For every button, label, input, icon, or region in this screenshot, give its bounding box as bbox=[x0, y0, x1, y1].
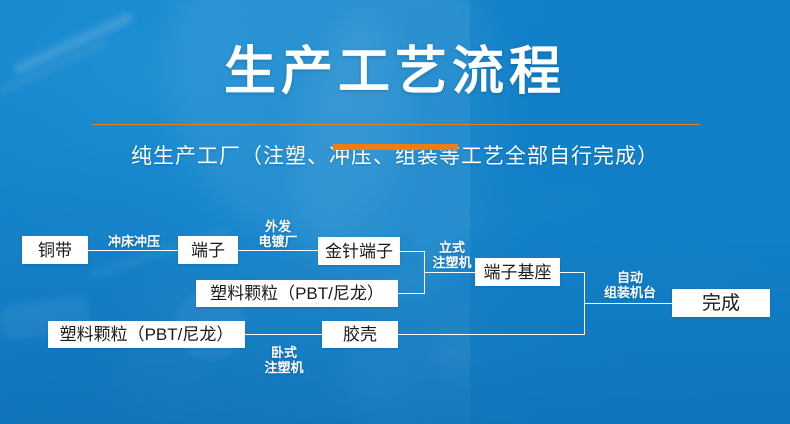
edge-label-assembly-line2: 组装机台 bbox=[592, 285, 668, 300]
flow-node-terminal[interactable]: 端子 bbox=[178, 236, 238, 264]
flow-node-plastic-pellet-top[interactable]: 塑料颗粒（PBT/尼龙） bbox=[196, 280, 398, 307]
flow-node-plastic-pellet-top-label: 塑料颗粒（PBT/尼龙） bbox=[210, 285, 384, 302]
flow-node-terminal-label: 端子 bbox=[191, 242, 225, 259]
connector-terminal-to-goldpin bbox=[238, 250, 318, 251]
flow-node-terminal-base-label: 端子基座 bbox=[484, 264, 552, 281]
edge-label-vertical-line2: 注塑机 bbox=[428, 255, 476, 270]
connector-merge-to-finished bbox=[584, 303, 672, 304]
edge-label-assembly-line1: 自动 bbox=[592, 270, 668, 285]
edge-label-horizontal-line1: 卧式 bbox=[258, 345, 310, 360]
connector-pellet-top-out bbox=[398, 293, 424, 294]
edge-label-horizontal-molding: 卧式 注塑机 bbox=[258, 345, 310, 375]
edge-label-outsourced-plating: 外发 电镀厂 bbox=[246, 219, 310, 249]
edge-label-punch-press-line1: 冲床冲压 bbox=[98, 234, 170, 249]
flow-node-finished[interactable]: 完成 bbox=[672, 289, 770, 317]
edge-label-vertical-line1: 立式 bbox=[428, 240, 476, 255]
edge-label-plating-line2: 电镀厂 bbox=[246, 234, 310, 249]
flow-node-finished-label: 完成 bbox=[702, 294, 740, 313]
flow-node-gold-pin-terminal-label: 金针端子 bbox=[325, 243, 393, 260]
flow-node-plastic-shell[interactable]: 胶壳 bbox=[322, 321, 398, 348]
flow-node-gold-pin-terminal[interactable]: 金针端子 bbox=[318, 237, 400, 265]
process-flow-diagram: 冲床冲压 外发 电镀厂 立式 注塑机 卧式 注塑机 自动 组装机台 铜带 端子 … bbox=[0, 0, 790, 424]
flow-node-copper-strip[interactable]: 铜带 bbox=[22, 236, 88, 264]
edge-label-vertical-molding: 立式 注塑机 bbox=[428, 240, 476, 270]
production-process-banner: 生产工艺流程 纯生产工厂（注塑、冲压、组装等工艺全部自行完成） 冲床冲压 bbox=[0, 0, 790, 424]
flow-node-copper-strip-label: 铜带 bbox=[38, 242, 72, 259]
edge-label-punch-press: 冲床冲压 bbox=[98, 234, 170, 249]
flow-node-plastic-pellet-bottom[interactable]: 塑料颗粒（PBT/尼龙） bbox=[48, 321, 245, 348]
edge-label-plating-line1: 外发 bbox=[246, 219, 310, 234]
flow-node-plastic-pellet-bottom-label: 塑料颗粒（PBT/尼龙） bbox=[60, 326, 234, 343]
connector-pellet-bottom-to-shell bbox=[245, 334, 322, 335]
flow-node-terminal-base[interactable]: 端子基座 bbox=[475, 258, 560, 286]
connector-shell-out bbox=[398, 334, 584, 335]
connector-base-out bbox=[560, 272, 584, 273]
connector-copper-to-terminal bbox=[88, 250, 178, 251]
flow-node-plastic-shell-label: 胶壳 bbox=[343, 326, 377, 343]
edge-label-horizontal-line2: 注塑机 bbox=[258, 360, 310, 375]
edge-label-auto-assembly: 自动 组装机台 bbox=[592, 270, 668, 300]
connector-goldpin-out bbox=[400, 251, 424, 252]
connector-merge-to-base bbox=[424, 272, 475, 273]
